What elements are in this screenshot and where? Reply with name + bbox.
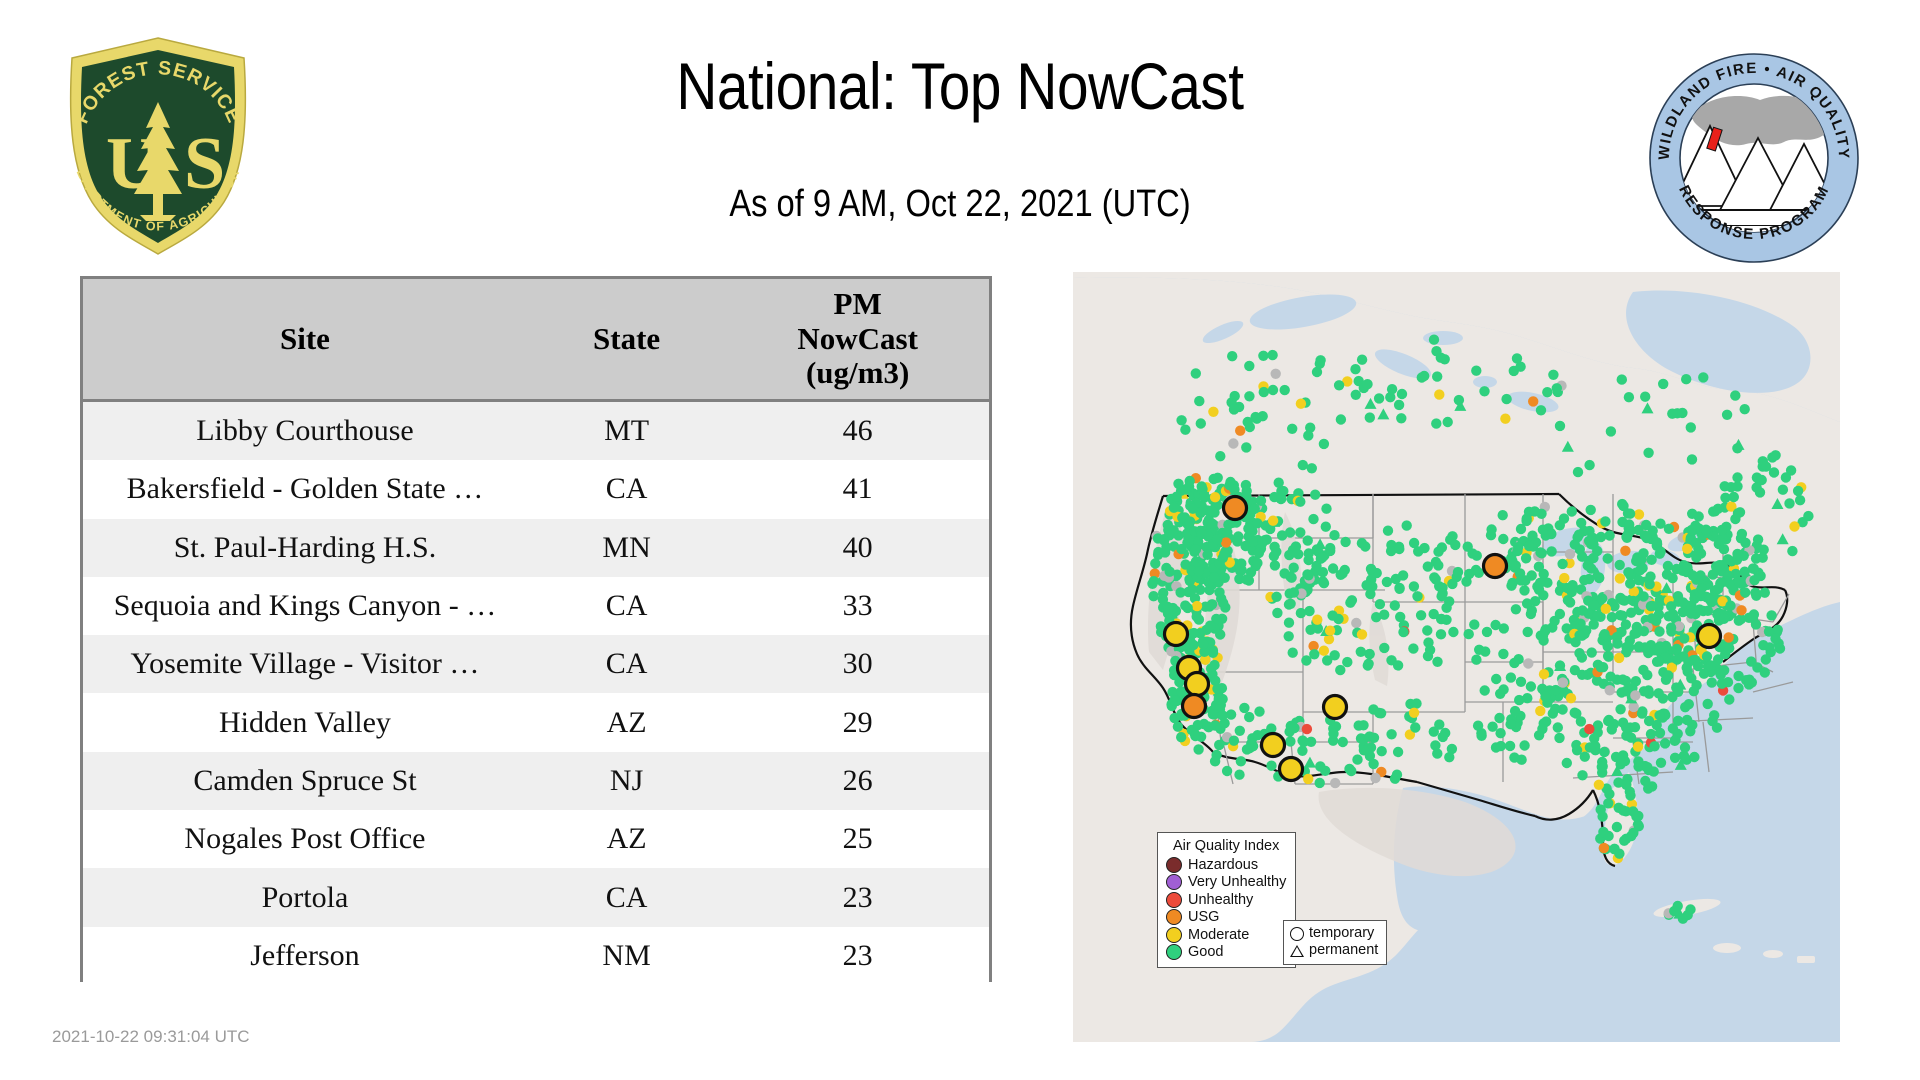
monitor-marker-temporary[interactable] bbox=[1476, 731, 1486, 741]
monitor-marker-temporary[interactable] bbox=[1732, 549, 1742, 559]
monitor-marker-temporary[interactable] bbox=[1394, 584, 1404, 594]
monitor-marker-temporary[interactable] bbox=[1509, 752, 1519, 762]
monitor-marker-temporary[interactable] bbox=[1183, 603, 1193, 613]
monitor-marker-temporary[interactable] bbox=[1682, 544, 1692, 554]
monitor-marker-temporary[interactable] bbox=[1209, 474, 1219, 484]
monitor-marker-temporary[interactable] bbox=[1315, 761, 1325, 771]
monitor-marker-temporary[interactable] bbox=[1733, 671, 1743, 681]
monitor-marker-temporary[interactable] bbox=[1436, 591, 1446, 601]
monitor-marker-temporary[interactable] bbox=[1764, 642, 1774, 652]
monitor-marker-temporary[interactable] bbox=[1758, 553, 1768, 563]
monitor-marker-temporary[interactable] bbox=[1274, 478, 1284, 488]
monitor-marker-temporary[interactable] bbox=[1252, 518, 1262, 528]
table-row[interactable]: Sequoia and Kings Canyon - …CA33 bbox=[83, 577, 989, 635]
monitor-marker-temporary[interactable] bbox=[1369, 733, 1379, 743]
table-row[interactable]: St. Paul-Harding H.S.MN40 bbox=[83, 519, 989, 577]
monitor-marker-temporary[interactable] bbox=[1500, 414, 1510, 424]
monitor-marker-temporary[interactable] bbox=[1280, 385, 1290, 395]
monitor-marker-temporary[interactable] bbox=[1431, 574, 1441, 584]
monitor-marker-temporary[interactable] bbox=[1258, 411, 1268, 421]
monitor-marker-temporary[interactable] bbox=[1364, 649, 1374, 659]
monitor-marker-temporary[interactable] bbox=[1528, 396, 1538, 406]
monitor-marker-temporary[interactable] bbox=[1328, 729, 1338, 739]
monitor-marker-temporary[interactable] bbox=[1498, 510, 1508, 520]
monitor-marker-temporary[interactable] bbox=[1603, 798, 1613, 808]
monitor-marker-temporary[interactable] bbox=[1599, 629, 1609, 639]
monitor-marker-temporary[interactable] bbox=[1266, 761, 1276, 771]
monitor-marker-temporary[interactable] bbox=[1479, 386, 1489, 396]
monitor-marker-temporary[interactable] bbox=[1577, 652, 1587, 662]
monitor-marker-temporary[interactable] bbox=[1276, 494, 1286, 504]
monitor-marker-temporary[interactable] bbox=[1506, 672, 1516, 682]
monitor-marker-temporary[interactable] bbox=[1750, 588, 1760, 598]
monitor-marker-temporary[interactable] bbox=[1604, 715, 1614, 725]
monitor-marker-temporary[interactable] bbox=[1566, 693, 1576, 703]
monitor-marker-temporary[interactable] bbox=[1669, 906, 1679, 916]
monitor-marker-temporary[interactable] bbox=[1236, 756, 1246, 766]
monitor-marker-temporary[interactable] bbox=[1719, 544, 1729, 554]
monitor-marker-temporary[interactable] bbox=[1574, 630, 1584, 640]
monitor-marker-temporary[interactable] bbox=[1269, 551, 1279, 561]
monitor-marker-temporary[interactable] bbox=[1480, 685, 1490, 695]
monitor-marker-temporary[interactable] bbox=[1284, 618, 1294, 628]
monitor-marker-temporary[interactable] bbox=[1538, 635, 1548, 645]
monitor-marker-temporary[interactable] bbox=[1775, 643, 1785, 653]
monitor-marker-temporary[interactable] bbox=[1243, 523, 1253, 533]
monitor-marker-temporary[interactable] bbox=[1344, 764, 1354, 774]
monitor-marker-temporary[interactable] bbox=[1646, 729, 1656, 739]
monitor-marker-temporary[interactable] bbox=[1624, 392, 1634, 402]
monitor-marker-temporary[interactable] bbox=[1469, 619, 1479, 629]
monitor-marker-temporary[interactable] bbox=[1191, 544, 1201, 554]
monitor-marker-temporary[interactable] bbox=[1668, 723, 1678, 733]
monitor-marker-temporary[interactable] bbox=[1296, 399, 1306, 409]
monitor-marker-temporary[interactable] bbox=[1204, 601, 1214, 611]
monitor-marker-temporary[interactable] bbox=[1660, 738, 1670, 748]
highlighted-site-marker[interactable] bbox=[1324, 696, 1347, 719]
monitor-marker-temporary[interactable] bbox=[1691, 538, 1701, 548]
monitor-marker-temporary[interactable] bbox=[1295, 527, 1305, 537]
monitor-marker-temporary[interactable] bbox=[1540, 626, 1550, 636]
monitor-marker-temporary[interactable] bbox=[1482, 627, 1492, 637]
monitor-marker-temporary[interactable] bbox=[1694, 604, 1704, 614]
monitor-marker-temporary[interactable] bbox=[1707, 677, 1717, 687]
monitor-marker-temporary[interactable] bbox=[1277, 530, 1287, 540]
monitor-marker-temporary[interactable] bbox=[1212, 534, 1222, 544]
monitor-marker-temporary[interactable] bbox=[1655, 547, 1665, 557]
monitor-marker-temporary[interactable] bbox=[1740, 587, 1750, 597]
monitor-marker-temporary[interactable] bbox=[1764, 626, 1774, 636]
monitor-marker-temporary[interactable] bbox=[1753, 534, 1763, 544]
monitor-marker-temporary[interactable] bbox=[1473, 721, 1483, 731]
monitor-marker-temporary[interactable] bbox=[1646, 555, 1656, 565]
monitor-marker-temporary[interactable] bbox=[1663, 670, 1673, 680]
monitor-marker-temporary[interactable] bbox=[1193, 720, 1203, 730]
monitor-marker-temporary[interactable] bbox=[1598, 761, 1608, 771]
monitor-marker-temporary[interactable] bbox=[1287, 424, 1297, 434]
monitor-marker-temporary[interactable] bbox=[1620, 546, 1630, 556]
monitor-marker-temporary[interactable] bbox=[1436, 629, 1446, 639]
monitor-marker-temporary[interactable] bbox=[1422, 625, 1432, 635]
table-row[interactable]: Bakersfield - Golden State …CA41 bbox=[83, 460, 989, 518]
monitor-marker-temporary[interactable] bbox=[1227, 351, 1237, 361]
monitor-marker-temporary[interactable] bbox=[1599, 843, 1609, 853]
monitor-marker-temporary[interactable] bbox=[1501, 394, 1511, 404]
monitor-marker-temporary[interactable] bbox=[1678, 597, 1688, 607]
monitor-marker-temporary[interactable] bbox=[1519, 585, 1529, 595]
monitor-marker-temporary[interactable] bbox=[1631, 556, 1641, 566]
monitor-marker-temporary[interactable] bbox=[1303, 570, 1313, 580]
monitor-marker-temporary[interactable] bbox=[1325, 543, 1335, 553]
monitor-marker-temporary[interactable] bbox=[1654, 656, 1664, 666]
monitor-marker-temporary[interactable] bbox=[1793, 486, 1803, 496]
monitor-marker-temporary[interactable] bbox=[1147, 579, 1157, 589]
monitor-marker-temporary[interactable] bbox=[1207, 519, 1217, 529]
monitor-marker-temporary[interactable] bbox=[1309, 649, 1319, 659]
monitor-marker-temporary[interactable] bbox=[1619, 836, 1629, 846]
monitor-marker-temporary[interactable] bbox=[1308, 514, 1318, 524]
monitor-marker-temporary[interactable] bbox=[1284, 631, 1294, 641]
monitor-marker-temporary[interactable] bbox=[1666, 623, 1676, 633]
monitor-marker-temporary[interactable] bbox=[1597, 811, 1607, 821]
monitor-marker-temporary[interactable] bbox=[1523, 658, 1533, 668]
monitor-marker-temporary[interactable] bbox=[1170, 696, 1180, 706]
monitor-marker-temporary[interactable] bbox=[1207, 506, 1217, 516]
monitor-marker-temporary[interactable] bbox=[1321, 522, 1331, 532]
monitor-marker-temporary[interactable] bbox=[1412, 591, 1422, 601]
monitor-marker-temporary[interactable] bbox=[1244, 391, 1254, 401]
monitor-marker-temporary[interactable] bbox=[1555, 609, 1565, 619]
monitor-marker-temporary[interactable] bbox=[1575, 544, 1585, 554]
monitor-marker-temporary[interactable] bbox=[1285, 599, 1295, 609]
monitor-marker-temporary[interactable] bbox=[1526, 681, 1536, 691]
monitor-marker-temporary[interactable] bbox=[1755, 487, 1765, 497]
monitor-marker-temporary[interactable] bbox=[1795, 495, 1805, 505]
monitor-marker-temporary[interactable] bbox=[1191, 368, 1201, 378]
monitor-marker-temporary[interactable] bbox=[1615, 560, 1625, 570]
monitor-marker-temporary[interactable] bbox=[1268, 385, 1278, 395]
monitor-marker-temporary[interactable] bbox=[1180, 425, 1190, 435]
monitor-marker-temporary[interactable] bbox=[1527, 531, 1537, 541]
monitor-marker-temporary[interactable] bbox=[1210, 492, 1220, 502]
monitor-marker-temporary[interactable] bbox=[1165, 567, 1175, 577]
monitor-marker-temporary[interactable] bbox=[1319, 578, 1329, 588]
monitor-marker-temporary[interactable] bbox=[1319, 439, 1329, 449]
monitor-marker-temporary[interactable] bbox=[1252, 730, 1262, 740]
monitor-marker-temporary[interactable] bbox=[1487, 722, 1497, 732]
monitor-marker-temporary[interactable] bbox=[1486, 524, 1496, 534]
monitor-marker-temporary[interactable] bbox=[1229, 404, 1239, 414]
monitor-marker-temporary[interactable] bbox=[1509, 658, 1519, 668]
monitor-marker-temporary[interactable] bbox=[1584, 724, 1594, 734]
monitor-marker-temporary[interactable] bbox=[1584, 460, 1594, 470]
monitor-marker-temporary[interactable] bbox=[1584, 536, 1594, 546]
monitor-marker-temporary[interactable] bbox=[1153, 547, 1163, 557]
monitor-marker-temporary[interactable] bbox=[1325, 626, 1335, 636]
monitor-marker-temporary[interactable] bbox=[1159, 535, 1169, 545]
monitor-marker-temporary[interactable] bbox=[1654, 626, 1664, 636]
monitor-marker-temporary[interactable] bbox=[1351, 390, 1361, 400]
monitor-marker-temporary[interactable] bbox=[1722, 410, 1732, 420]
monitor-marker-temporary[interactable] bbox=[1354, 720, 1364, 730]
monitor-marker-temporary[interactable] bbox=[1302, 724, 1312, 734]
monitor-marker-temporary[interactable] bbox=[1546, 546, 1556, 556]
monitor-marker-temporary[interactable] bbox=[1208, 407, 1218, 417]
monitor-marker-temporary[interactable] bbox=[1410, 722, 1420, 732]
column-header-site[interactable]: Site bbox=[83, 279, 527, 401]
monitor-marker-temporary[interactable] bbox=[1245, 743, 1255, 753]
monitor-marker-temporary[interactable] bbox=[1658, 379, 1668, 389]
monitor-marker-temporary[interactable] bbox=[1649, 741, 1659, 751]
monitor-marker-temporary[interactable] bbox=[1521, 516, 1531, 526]
monitor-marker-temporary[interactable] bbox=[1222, 527, 1232, 537]
monitor-marker-temporary[interactable] bbox=[1615, 704, 1625, 714]
monitor-marker-temporary[interactable] bbox=[1250, 504, 1260, 514]
monitor-marker-temporary[interactable] bbox=[1429, 727, 1439, 737]
monitor-marker-temporary[interactable] bbox=[1258, 351, 1268, 361]
monitor-marker-temporary[interactable] bbox=[1362, 379, 1372, 389]
monitor-marker-temporary[interactable] bbox=[1740, 538, 1750, 548]
monitor-marker-temporary[interactable] bbox=[1190, 731, 1200, 741]
monitor-marker-temporary[interactable] bbox=[1310, 490, 1320, 500]
monitor-marker-temporary[interactable] bbox=[1498, 649, 1508, 659]
monitor-marker-temporary[interactable] bbox=[1534, 562, 1544, 572]
monitor-marker-temporary[interactable] bbox=[1241, 574, 1251, 584]
monitor-marker-temporary[interactable] bbox=[1555, 660, 1565, 670]
monitor-marker-temporary[interactable] bbox=[1514, 695, 1524, 705]
highlighted-site-marker[interactable] bbox=[1698, 625, 1721, 648]
monitor-marker-temporary[interactable] bbox=[1293, 549, 1303, 559]
monitor-marker-temporary[interactable] bbox=[1319, 646, 1329, 656]
monitor-marker-temporary[interactable] bbox=[1471, 366, 1481, 376]
monitor-marker-temporary[interactable] bbox=[1645, 579, 1655, 589]
monitor-marker-temporary[interactable] bbox=[1555, 421, 1565, 431]
monitor-marker-temporary[interactable] bbox=[1600, 516, 1610, 526]
monitor-marker-temporary[interactable] bbox=[1639, 626, 1649, 636]
monitor-marker-temporary[interactable] bbox=[1463, 542, 1473, 552]
monitor-marker-temporary[interactable] bbox=[1617, 499, 1627, 509]
monitor-marker-temporary[interactable] bbox=[1587, 647, 1597, 657]
monitor-marker-temporary[interactable] bbox=[1698, 372, 1708, 382]
monitor-marker-temporary[interactable] bbox=[1649, 766, 1659, 776]
monitor-marker-temporary[interactable] bbox=[1375, 599, 1385, 609]
monitor-marker-temporary[interactable] bbox=[1382, 577, 1392, 587]
monitor-marker-temporary[interactable] bbox=[1638, 591, 1648, 601]
monitor-marker-temporary[interactable] bbox=[1409, 708, 1419, 718]
monitor-marker-temporary[interactable] bbox=[1359, 745, 1369, 755]
monitor-marker-temporary[interactable] bbox=[1701, 525, 1711, 535]
monitor-marker-temporary[interactable] bbox=[1685, 904, 1695, 914]
monitor-marker-temporary[interactable] bbox=[1535, 547, 1545, 557]
monitor-marker-temporary[interactable] bbox=[1740, 404, 1750, 414]
monitor-marker-temporary[interactable] bbox=[1386, 729, 1396, 739]
monitor-marker-temporary[interactable] bbox=[1299, 737, 1309, 747]
monitor-marker-temporary[interactable] bbox=[1589, 619, 1599, 629]
monitor-marker-temporary[interactable] bbox=[1599, 747, 1609, 757]
monitor-marker-temporary[interactable] bbox=[1535, 706, 1545, 716]
monitor-marker-temporary[interactable] bbox=[1729, 492, 1739, 502]
monitor-marker-temporary[interactable] bbox=[1521, 553, 1531, 563]
table-row[interactable]: PortolaCA23 bbox=[83, 868, 989, 926]
monitor-marker-temporary[interactable] bbox=[1222, 766, 1232, 776]
highlighted-site-marker[interactable] bbox=[1280, 758, 1303, 781]
monitor-marker-temporary[interactable] bbox=[1181, 484, 1191, 494]
monitor-marker-temporary[interactable] bbox=[1535, 578, 1545, 588]
monitor-marker-temporary[interactable] bbox=[1352, 754, 1362, 764]
monitor-marker-temporary[interactable] bbox=[1536, 405, 1546, 415]
monitor-marker-temporary[interactable] bbox=[1307, 463, 1317, 473]
monitor-marker-temporary[interactable] bbox=[1664, 524, 1674, 534]
monitor-marker-temporary[interactable] bbox=[1436, 353, 1446, 363]
monitor-marker-temporary[interactable] bbox=[1682, 663, 1692, 673]
monitor-marker-temporary[interactable] bbox=[1596, 532, 1606, 542]
monitor-marker-temporary[interactable] bbox=[1667, 409, 1677, 419]
monitor-marker-temporary[interactable] bbox=[1687, 454, 1697, 464]
monitor-marker-temporary[interactable] bbox=[1505, 741, 1515, 751]
monitor-marker-temporary[interactable] bbox=[1229, 736, 1239, 746]
monitor-marker-temporary[interactable] bbox=[1576, 716, 1586, 726]
monitor-marker-temporary[interactable] bbox=[1210, 756, 1220, 766]
monitor-marker-temporary[interactable] bbox=[1411, 698, 1421, 708]
monitor-marker-temporary[interactable] bbox=[1441, 615, 1451, 625]
monitor-marker-temporary[interactable] bbox=[1553, 722, 1563, 732]
monitor-marker-temporary[interactable] bbox=[1603, 553, 1613, 563]
monitor-marker-temporary[interactable] bbox=[1603, 652, 1613, 662]
monitor-marker-temporary[interactable] bbox=[1202, 550, 1212, 560]
monitor-marker-temporary[interactable] bbox=[1432, 748, 1442, 758]
monitor-marker-temporary[interactable] bbox=[1244, 361, 1254, 371]
monitor-marker-temporary[interactable] bbox=[1537, 724, 1547, 734]
monitor-marker-temporary[interactable] bbox=[1733, 683, 1743, 693]
monitor-marker-temporary[interactable] bbox=[1437, 542, 1447, 552]
monitor-marker-temporary[interactable] bbox=[1285, 736, 1295, 746]
monitor-marker-temporary[interactable] bbox=[1321, 504, 1331, 514]
monitor-marker-temporary[interactable] bbox=[1670, 753, 1680, 763]
monitor-marker-temporary[interactable] bbox=[1357, 355, 1367, 365]
monitor-marker-temporary[interactable] bbox=[1530, 506, 1540, 516]
monitor-marker-temporary[interactable] bbox=[1634, 642, 1644, 652]
monitor-marker-temporary[interactable] bbox=[1653, 688, 1663, 698]
monitor-marker-temporary[interactable] bbox=[1317, 552, 1327, 562]
monitor-marker-temporary[interactable] bbox=[1215, 451, 1225, 461]
monitor-marker-temporary[interactable] bbox=[1725, 601, 1735, 611]
monitor-marker-temporary[interactable] bbox=[1596, 662, 1606, 672]
monitor-marker-temporary[interactable] bbox=[1601, 604, 1611, 614]
monitor-marker-temporary[interactable] bbox=[1656, 758, 1666, 768]
monitor-marker-temporary[interactable] bbox=[1394, 544, 1404, 554]
monitor-marker-temporary[interactable] bbox=[1471, 655, 1481, 665]
monitor-marker-temporary[interactable] bbox=[1699, 669, 1709, 679]
monitor-marker-temporary[interactable] bbox=[1574, 530, 1584, 540]
monitor-marker-temporary[interactable] bbox=[1770, 450, 1780, 460]
monitor-marker-temporary[interactable] bbox=[1176, 415, 1186, 425]
monitor-marker-temporary[interactable] bbox=[1542, 387, 1552, 397]
monitor-marker-temporary[interactable] bbox=[1461, 576, 1471, 586]
monitor-marker-temporary[interactable] bbox=[1803, 511, 1813, 521]
monitor-marker-temporary[interactable] bbox=[1453, 567, 1463, 577]
monitor-marker-temporary[interactable] bbox=[1642, 533, 1652, 543]
monitor-marker-temporary[interactable] bbox=[1548, 370, 1558, 380]
monitor-marker-temporary[interactable] bbox=[1694, 511, 1704, 521]
highlighted-site-marker[interactable] bbox=[1484, 555, 1507, 578]
monitor-marker-temporary[interactable] bbox=[1447, 579, 1457, 589]
monitor-marker-temporary[interactable] bbox=[1519, 740, 1529, 750]
monitor-marker-temporary[interactable] bbox=[1176, 544, 1186, 554]
monitor-marker-temporary[interactable] bbox=[1220, 573, 1230, 583]
monitor-marker-temporary[interactable] bbox=[1713, 504, 1723, 514]
monitor-marker-temporary[interactable] bbox=[1417, 372, 1427, 382]
monitor-marker-temporary[interactable] bbox=[1363, 659, 1373, 669]
monitor-marker-temporary[interactable] bbox=[1185, 516, 1195, 526]
monitor-marker-temporary[interactable] bbox=[1617, 374, 1627, 384]
monitor-marker-temporary[interactable] bbox=[1512, 546, 1522, 556]
monitor-marker-temporary[interactable] bbox=[1702, 651, 1712, 661]
monitor-marker-temporary[interactable] bbox=[1402, 520, 1412, 530]
monitor-marker-temporary[interactable] bbox=[1612, 638, 1622, 648]
monitor-marker-temporary[interactable] bbox=[1433, 560, 1443, 570]
monitor-marker-temporary[interactable] bbox=[1577, 605, 1587, 615]
monitor-marker-temporary[interactable] bbox=[1716, 670, 1726, 680]
monitor-marker-temporary[interactable] bbox=[1712, 723, 1722, 733]
monitor-marker-temporary[interactable] bbox=[1289, 563, 1299, 573]
highlighted-site-marker[interactable] bbox=[1224, 497, 1247, 520]
monitor-marker-temporary[interactable] bbox=[1397, 389, 1407, 399]
monitor-marker-temporary[interactable] bbox=[1434, 389, 1444, 399]
monitor-marker-temporary[interactable] bbox=[1736, 605, 1746, 615]
monitor-marker-temporary[interactable] bbox=[1188, 504, 1198, 514]
monitor-marker-temporary[interactable] bbox=[1194, 396, 1204, 406]
table-row[interactable]: Camden Spruce StNJ26 bbox=[83, 752, 989, 810]
monitor-marker-temporary[interactable] bbox=[1628, 828, 1638, 838]
monitor-marker-temporary[interactable] bbox=[1516, 677, 1526, 687]
monitor-marker-temporary[interactable] bbox=[1432, 371, 1442, 381]
monitor-marker-temporary[interactable] bbox=[1464, 629, 1474, 639]
monitor-marker-temporary[interactable] bbox=[1703, 699, 1713, 709]
monitor-marker-temporary[interactable] bbox=[1370, 773, 1380, 783]
monitor-marker-temporary[interactable] bbox=[1724, 643, 1734, 653]
monitor-marker-temporary[interactable] bbox=[1749, 575, 1759, 585]
monitor-marker-temporary[interactable] bbox=[1621, 806, 1631, 816]
monitor-marker-temporary[interactable] bbox=[1784, 498, 1794, 508]
monitor-marker-temporary[interactable] bbox=[1618, 674, 1628, 684]
monitor-marker-temporary[interactable] bbox=[1305, 423, 1315, 433]
monitor-marker-temporary[interactable] bbox=[1781, 472, 1791, 482]
monitor-marker-temporary[interactable] bbox=[1335, 665, 1345, 675]
monitor-marker-temporary[interactable] bbox=[1640, 392, 1650, 402]
table-row[interactable]: Libby CourthouseMT46 bbox=[83, 401, 989, 461]
monitor-marker-temporary[interactable] bbox=[1680, 742, 1690, 752]
monitor-marker-temporary[interactable] bbox=[1361, 580, 1371, 590]
monitor-marker-temporary[interactable] bbox=[1607, 724, 1617, 734]
monitor-marker-temporary[interactable] bbox=[1398, 627, 1408, 637]
monitor-marker-temporary[interactable] bbox=[1720, 481, 1730, 491]
monitor-marker-temporary[interactable] bbox=[1390, 600, 1400, 610]
monitor-marker-temporary[interactable] bbox=[1605, 685, 1615, 695]
monitor-marker-temporary[interactable] bbox=[1673, 687, 1683, 697]
monitor-marker-temporary[interactable] bbox=[1684, 699, 1694, 709]
monitor-marker-temporary[interactable] bbox=[1271, 592, 1281, 602]
monitor-marker-temporary[interactable] bbox=[1773, 625, 1783, 635]
monitor-marker-temporary[interactable] bbox=[1723, 571, 1733, 581]
monitor-marker-temporary[interactable] bbox=[1194, 614, 1204, 624]
monitor-marker-temporary[interactable] bbox=[1590, 741, 1600, 751]
monitor-marker-temporary[interactable] bbox=[1268, 516, 1278, 526]
monitor-marker-temporary[interactable] bbox=[1570, 708, 1580, 718]
monitor-marker-temporary[interactable] bbox=[1444, 752, 1454, 762]
monitor-marker-temporary[interactable] bbox=[1327, 610, 1337, 620]
monitor-marker-temporary[interactable] bbox=[1329, 530, 1339, 540]
monitor-marker-temporary[interactable] bbox=[1530, 596, 1540, 606]
